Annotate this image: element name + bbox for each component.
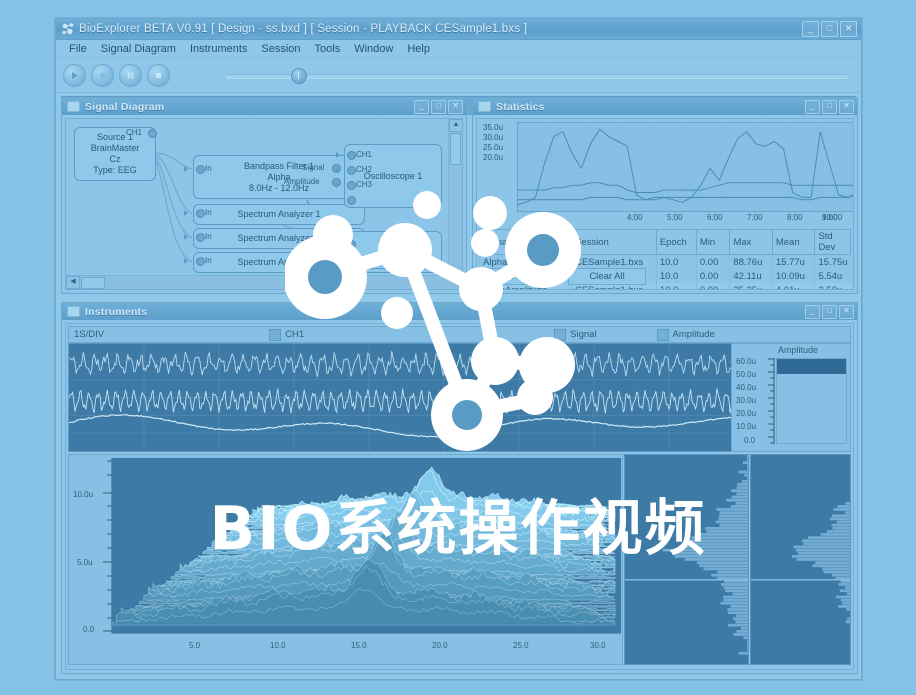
playback-scrubber-handle[interactable] — [291, 68, 307, 84]
oscilloscope-ch2-port[interactable] — [347, 166, 356, 175]
bar-ytick-0: 0.0 — [744, 436, 755, 445]
oscilloscope-plot — [69, 344, 744, 451]
bandpass-in-label: In — [205, 164, 212, 173]
signal-diagram-title-bar[interactable]: Signal Diagram _ □ ✕ — [62, 98, 466, 115]
spec-xtick-10: 10.0 — [270, 641, 286, 650]
scroll-up-icon[interactable]: ▲ — [449, 119, 463, 132]
spec-ytick-0: 0.0 — [83, 625, 94, 634]
menu-item-help[interactable]: Help — [400, 42, 437, 56]
spec-xtick-30: 30.0 — [590, 641, 606, 650]
spectrum-analyzer-1-in-arrow — [184, 210, 188, 216]
play-button[interactable] — [63, 64, 86, 87]
document-icon — [478, 101, 491, 112]
statistics-title: Statistics — [496, 101, 545, 113]
bandpass-filter-node[interactable]: Bandpass Filter 1 Alpha 8.0Hz - 12.0Hz — [193, 155, 365, 199]
oscilloscope-ch2-label: CH2 — [356, 165, 372, 174]
instruments-window-controls[interactable]: _ □ ✕ — [805, 305, 854, 319]
instruments-body: 1S/DIV CH1 Signal Amplitude — [65, 323, 854, 670]
channel-legend[interactable]: CH1 — [269, 329, 304, 341]
cell-max: 42.11u — [730, 269, 773, 283]
cell-signal: Alpha:Amplitude — [480, 255, 572, 270]
spectrum-analyzer-3-label: Spectrum Analyzer 3 — [237, 257, 320, 268]
bar-ytick-60: 60.0u — [736, 357, 756, 366]
histogram-right-plot — [751, 455, 851, 655]
stat-xtick-6: 6:00 — [707, 213, 723, 222]
trigger-enable-port[interactable] — [347, 254, 356, 263]
signal-diagram-hscrollbar[interactable]: ◀ — [66, 275, 462, 289]
table-header-row: Signal Session Epoch Min Max Mean Std De… — [480, 230, 851, 255]
bandpass-amplitude-label: Amplitude — [284, 177, 320, 186]
screenshot-root: BioExplorer BETA V0.91 [ Design - ss.bxd… — [0, 0, 916, 695]
statistics-window: Statistics _ □ ✕ 35.0u 30.0u 25.0u 20.0u… — [472, 97, 858, 294]
signal-diagram-vscrollbar[interactable]: ▲ — [448, 119, 462, 276]
signal-diagram-title: Signal Diagram — [85, 101, 164, 113]
instruments-maximize-button[interactable]: □ — [822, 305, 837, 319]
trigger-line-2: Enable — [379, 250, 407, 261]
statistics-window-controls[interactable]: _ □ ✕ — [805, 100, 854, 114]
histogram-panel-right[interactable] — [750, 454, 851, 665]
instruments-label-bar: 1S/DIV CH1 Signal Amplitude — [68, 326, 851, 343]
stat-ytick-25: 25.0u — [483, 143, 503, 152]
bar-ytick-20: 20.0u — [736, 409, 756, 418]
stat-xtick-8: 8:00 — [787, 213, 803, 222]
signal-color-chip — [554, 329, 566, 341]
col-stddev: Std Dev — [815, 230, 851, 255]
cell-session: CESample1.bxs — [571, 255, 656, 270]
bar-ytick-50: 50.0u — [736, 370, 756, 379]
instruments-close-button[interactable]: ✕ — [839, 305, 854, 319]
spectrum-analyzer-2-in-label: In — [205, 232, 212, 241]
cell-stddev: 2.50u — [815, 283, 851, 290]
cell-max: 25.25u — [730, 283, 773, 290]
stat-ytick-20: 20.0u — [483, 153, 503, 162]
spec-xtick-5: 5.0 — [189, 641, 200, 650]
cell-epoch: 10.0 — [656, 269, 696, 283]
bar-ytick-10: 10.0u — [736, 422, 756, 431]
spectrum-analyzer-3-in-arrow — [184, 258, 188, 264]
spec-xtick-20: 20.0 — [432, 641, 448, 650]
signal-diagram-close-button[interactable]: ✕ — [448, 100, 463, 114]
menu-item-session[interactable]: Session — [254, 42, 307, 56]
hscroll-thumb[interactable] — [81, 277, 105, 289]
col-max: Max — [730, 230, 773, 255]
col-min: Min — [696, 230, 729, 255]
maximize-button[interactable]: □ — [821, 21, 838, 37]
statistics-minimize-button[interactable]: _ — [805, 100, 820, 114]
cell-min: 0.00 — [696, 283, 729, 290]
histogram-panel-left[interactable] — [624, 454, 749, 665]
oscilloscope-traces[interactable] — [68, 343, 745, 452]
source-node-line-2: BrainMaster — [91, 143, 140, 154]
menu-item-tools[interactable]: Tools — [308, 42, 348, 56]
statistics-plot-area — [517, 122, 854, 212]
close-button[interactable]: ✕ — [840, 21, 857, 37]
oscilloscope-ch3-arrow — [336, 182, 340, 188]
signal-legend[interactable]: Signal — [554, 329, 596, 341]
cell-stddev: 15.75u — [815, 255, 851, 270]
menu-item-file[interactable]: File — [62, 42, 94, 56]
source-node-line-3: Cz — [110, 154, 121, 165]
spec-x-axis — [112, 633, 621, 641]
statistics-buttons: Add Signal Clear All — [481, 268, 646, 285]
spectrum-analyzer-1-node[interactable]: Spectrum Analyzer 1 — [193, 204, 365, 225]
cell-epoch: 10.0 — [656, 255, 696, 270]
trigger-enable-arrow — [336, 255, 340, 261]
bandpass-in-arrow — [184, 166, 188, 172]
spectrogram-plot — [112, 458, 621, 633]
channel-color-chip — [269, 329, 281, 341]
amplitude-bar-graph[interactable]: Amplitude 60.0u 50.0u 40.0u 30.0u 20.0u … — [731, 343, 851, 452]
pause-button[interactable] — [119, 64, 142, 87]
statistics-close-button[interactable]: ✕ — [839, 100, 854, 114]
stat-xtick-7: 7:00 — [747, 213, 763, 222]
col-session: Session — [571, 230, 656, 255]
spectrum-analyzer-2-in-port[interactable] — [196, 233, 205, 242]
signal-diagram-minimize-button[interactable]: _ — [414, 100, 429, 114]
bar-graph-bar — [777, 359, 846, 374]
trigger-node[interactable]: Trigger Enable — [344, 231, 442, 269]
statistics-table-container[interactable]: Signal Session Epoch Min Max Mean Std De… — [479, 229, 851, 263]
stat-xtick-10: 10:00 — [822, 213, 842, 222]
spectrum-analyzer-1-in-port[interactable] — [196, 209, 205, 218]
col-mean: Mean — [772, 230, 815, 255]
bar-ytick-40: 40.0u — [736, 383, 756, 392]
source-node[interactable]: Source 1 BrainMaster Cz Type: EEG — [74, 127, 156, 181]
oscilloscope-label: Oscilloscope 1 — [364, 171, 423, 182]
source-out-port[interactable] — [148, 129, 157, 138]
spec-ytick-5: 5.0u — [77, 558, 93, 567]
signal-diagram-canvas[interactable]: Source 1 BrainMaster Cz Type: EEG CH1 Ba… — [66, 119, 462, 289]
statistics-trend-chart: 35.0u 30.0u 25.0u 20.0u 4:00 5:00 6:00 7… — [479, 121, 851, 226]
cell-epoch: 10.0 — [656, 283, 696, 290]
spectrum-analyzer-2-in-arrow — [184, 234, 188, 240]
vscroll-thumb[interactable] — [450, 133, 461, 165]
trigger-in-arrow — [336, 241, 340, 247]
application-window: BioExplorer BETA V0.91 [ Design - ss.bxd… — [55, 18, 862, 680]
spec-xtick-25: 25.0 — [513, 641, 529, 650]
timebase-label: 1S/DIV — [74, 329, 104, 340]
channel-label: CH1 — [285, 329, 304, 340]
spectrum-analyzer-3-in-label: In — [205, 256, 212, 265]
spec-xtick-15: 15.0 — [351, 641, 367, 650]
bar-ytick-30: 30.0u — [736, 396, 756, 405]
amplitude-color-chip — [657, 329, 669, 341]
bandpass-signal-label: Signal — [302, 163, 324, 172]
signal-label: Signal — [570, 329, 596, 340]
spectrum-analyzer-2-label: Spectrum Analyzer 2 — [237, 233, 320, 244]
oscilloscope-ch3-label: CH3 — [356, 180, 372, 189]
window-title: BioExplorer BETA V0.91 [ Design - ss.bxd… — [79, 23, 527, 35]
spec-ytick-10: 10.0u — [73, 490, 93, 499]
document-icon — [67, 306, 80, 317]
menu-bar: File Signal Diagram Instruments Session … — [56, 40, 861, 58]
cell-mean: 15.77u — [772, 255, 815, 270]
oscilloscope-ch1-label: CH1 — [356, 150, 372, 159]
menu-item-window[interactable]: Window — [347, 42, 400, 56]
record-button[interactable] — [91, 64, 114, 87]
instruments-minimize-button[interactable]: _ — [805, 305, 820, 319]
oscilloscope-ch4-port[interactable] — [347, 196, 356, 205]
col-epoch: Epoch — [656, 230, 696, 255]
statistics-title-bar[interactable]: Statistics _ □ ✕ — [473, 98, 857, 115]
spectrum-analyzer-3-in-port[interactable] — [196, 257, 205, 266]
scroll-left-icon[interactable]: ◀ — [66, 276, 80, 289]
bandpass-in-port[interactable] — [196, 165, 205, 174]
statistics-maximize-button[interactable]: □ — [822, 100, 837, 114]
bar-graph-plot — [776, 358, 847, 444]
playback-scrubber[interactable] — [226, 74, 847, 79]
spectrogram-chart[interactable]: 10.0u 5.0u 0.0 — [68, 454, 623, 665]
col-signal: Signal — [480, 230, 572, 255]
stat-ytick-35: 35.0u — [483, 123, 503, 132]
bar-graph-title: Amplitude — [778, 345, 818, 355]
stat-xtick-4: 4:00 — [627, 213, 643, 222]
cell-min: 0.00 — [696, 269, 729, 283]
instruments-title: Instruments — [85, 306, 147, 318]
oscilloscope-ch1-port[interactable] — [347, 151, 356, 160]
toolbar — [56, 58, 861, 93]
window-controls[interactable]: _ □ ✕ — [802, 21, 857, 37]
cell-min: 0.00 — [696, 255, 729, 270]
menu-item-signal-diagram[interactable]: Signal Diagram — [94, 42, 183, 56]
histogram-left-plot — [625, 455, 748, 655]
source-out-port-label: CH1 — [126, 128, 142, 137]
document-icon — [67, 101, 80, 112]
clear-all-button[interactable]: Clear All — [568, 268, 646, 285]
stat-xtick-5: 5:00 — [667, 213, 683, 222]
signal-diagram-window-controls[interactable]: _ □ ✕ — [414, 100, 463, 114]
stop-button[interactable] — [147, 64, 170, 87]
amplitude-label: Amplitude — [673, 329, 715, 340]
stat-ytick-30: 30.0u — [483, 133, 503, 142]
trigger-line-1: Trigger — [379, 239, 407, 250]
spectrum-analyzer-1-in-label: In — [205, 208, 212, 217]
minimize-button[interactable]: _ — [802, 21, 819, 37]
signal-diagram-window: Signal Diagram _ □ ✕ — [61, 97, 467, 294]
oscilloscope-ch3-port[interactable] — [347, 181, 356, 190]
instruments-window: Instruments _ □ ✕ 1S/DIV CH1 — [61, 302, 858, 674]
signal-diagram-maximize-button[interactable]: □ — [431, 100, 446, 114]
spectrum-analyzer-1-label: Spectrum Analyzer 1 — [237, 209, 320, 220]
oscilloscope-ch2-arrow — [336, 167, 340, 173]
amplitude-legend[interactable]: Amplitude — [657, 329, 715, 341]
statistics-body: 35.0u 30.0u 25.0u 20.0u 4:00 5:00 6:00 7… — [476, 118, 854, 290]
menu-item-instruments[interactable]: Instruments — [183, 42, 254, 56]
add-signal-button[interactable]: Add Signal — [481, 268, 559, 285]
table-row[interactable]: Alpha:Amplitude CESample1.bxs 10.0 0.00 … — [480, 255, 851, 270]
oscilloscope-ch1-arrow — [336, 152, 340, 158]
source-node-line-4: Type: EEG — [93, 165, 137, 176]
trigger-in-port[interactable] — [347, 240, 356, 249]
cell-mean: 4.01u — [772, 283, 815, 290]
molecule-icon — [61, 22, 75, 36]
instruments-title-bar[interactable]: Instruments _ □ ✕ — [62, 303, 857, 320]
cell-max: 88.76u — [730, 255, 773, 270]
cell-stddev: 5.54u — [815, 269, 851, 283]
title-bar[interactable]: BioExplorer BETA V0.91 [ Design - ss.bxd… — [56, 19, 861, 40]
signal-diagram-body: Source 1 BrainMaster Cz Type: EEG CH1 Ba… — [65, 118, 463, 290]
cell-mean: 10.09u — [772, 269, 815, 283]
